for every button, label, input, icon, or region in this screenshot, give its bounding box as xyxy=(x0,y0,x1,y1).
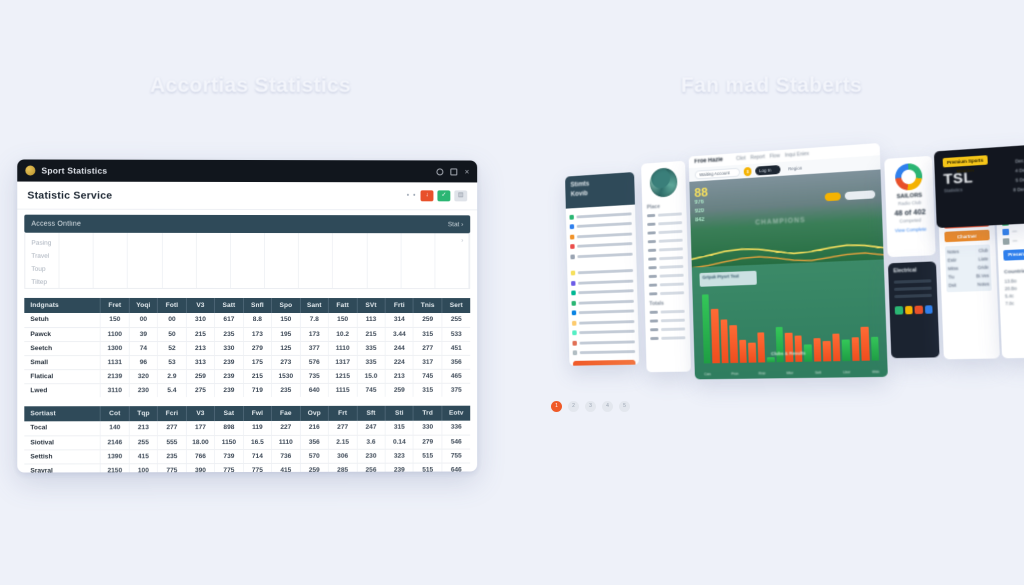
stat-value xyxy=(659,247,683,251)
table-row[interactable]: Seetch1300745221333027912537711103352442… xyxy=(24,341,470,355)
bar-axis-label: Selt xyxy=(814,371,821,375)
tsl-row: 5 Dec 5 xyxy=(1013,174,1024,185)
sidebar-item-label xyxy=(577,222,632,228)
primary-table: IndgnatsFretYoqiFotlV3SattSnflSpoSantFat… xyxy=(24,298,470,397)
sidebar-item-label xyxy=(578,289,633,294)
table-cell: 335 xyxy=(357,341,385,355)
table-header-cell[interactable]: Fotl xyxy=(158,298,187,313)
table-header-cell[interactable]: Cot xyxy=(101,406,130,421)
table-cell: 377 xyxy=(300,341,328,355)
stat-value xyxy=(659,239,683,243)
bar xyxy=(730,325,738,363)
table-header-cell[interactable]: Satt xyxy=(215,298,243,313)
bar-axis-label xyxy=(713,372,720,376)
grid-column xyxy=(60,233,94,288)
table-cell: 2139 xyxy=(101,369,130,383)
table-cell: 1110 xyxy=(328,341,356,355)
stat-key xyxy=(648,249,656,252)
table-cell: 10.2 xyxy=(328,327,356,341)
stat-card-link[interactable]: View Complete xyxy=(887,226,935,234)
table-header-cell[interactable]: Fcri xyxy=(158,406,187,421)
table-cell: 125 xyxy=(272,341,300,355)
table-cell: 277 xyxy=(414,341,442,355)
sidebar-item-icon xyxy=(572,341,577,346)
bar-axis-label xyxy=(853,370,861,374)
status-icon-blue xyxy=(924,305,932,314)
bar xyxy=(804,345,812,362)
table-cell: 255 xyxy=(442,313,470,327)
mid-table-row: NotesClub xyxy=(947,247,988,257)
table-row[interactable]: Setuh15000003106178.81507.81501133142592… xyxy=(24,313,470,327)
app-logo-icon xyxy=(25,166,35,176)
bar-axis-label xyxy=(796,371,803,375)
region-button[interactable]: Region xyxy=(784,163,806,173)
table-cell: 766 xyxy=(186,449,215,463)
bar-axis-label: Wslo xyxy=(872,370,880,374)
table-cell: 555 xyxy=(158,435,187,449)
pagination-dot-3[interactable]: 3 xyxy=(585,401,596,412)
table-row-label: Small xyxy=(24,355,100,369)
table-cell: 50 xyxy=(158,327,187,341)
table-cell: 150 xyxy=(328,313,356,327)
legend-row: —55.00.7SD xyxy=(997,234,1024,246)
mid-table-value: Club xyxy=(979,247,989,256)
sidebar-item-label xyxy=(579,310,634,315)
bar-axis-label xyxy=(740,372,747,376)
statistics-window: Sport Statistics × Statistic Service • •… xyxy=(17,159,477,472)
table-cell: 775 xyxy=(243,463,271,473)
table-header-cell[interactable]: V3 xyxy=(186,406,215,421)
table-cell: 7.8 xyxy=(300,313,328,327)
table-header-cell[interactable]: Sat xyxy=(215,406,243,421)
table-cell: 465 xyxy=(442,369,470,383)
emblem-mini-rows-2 xyxy=(645,307,690,343)
table-header-cell[interactable]: Trd xyxy=(414,406,442,421)
login-button[interactable]: Log In xyxy=(755,164,780,175)
donut-chart-icon xyxy=(895,163,923,191)
table-cell: 1530 xyxy=(272,369,300,383)
nav-item[interactable]: Report xyxy=(750,154,765,161)
grid-row-label: Tiltep xyxy=(31,276,51,289)
table-header-cell[interactable]: Indgnats xyxy=(24,298,100,313)
table-header-cell[interactable]: Fret xyxy=(101,298,130,313)
table-cell: 255 xyxy=(129,435,158,449)
table-cell: 227 xyxy=(272,421,300,435)
list-item-key: 7.0c xyxy=(1005,301,1014,307)
table-row[interactable]: Tocal14021327717789811922721627724731533… xyxy=(24,421,470,436)
hero-score: 88 xyxy=(694,186,708,200)
table-cell: 533 xyxy=(442,327,470,341)
sidebar-item-label xyxy=(576,212,631,218)
sidebar-item-label xyxy=(579,340,634,344)
table-cell: 239 xyxy=(385,463,413,473)
more-button[interactable]: ▤ xyxy=(454,190,467,201)
sidebar-item-icon xyxy=(572,331,577,336)
grid-column xyxy=(401,233,435,288)
grid-row-label: Toup xyxy=(31,263,51,276)
table-header-cell[interactable]: Sert xyxy=(442,298,470,313)
dark-card-line xyxy=(894,287,932,291)
table-cell: 5.4 xyxy=(158,383,187,397)
table-cell: 1390 xyxy=(101,449,130,463)
sidebar-item-label xyxy=(579,330,634,334)
table-cell: 173 xyxy=(300,327,328,341)
sidebar-item-label xyxy=(578,279,633,284)
table-cell: 310 xyxy=(186,313,215,327)
list-item: 13.Bo—7.9.Bo xyxy=(999,276,1024,286)
table-row-label: Settish xyxy=(24,449,100,463)
table-cell: 1300 xyxy=(101,341,130,355)
table-cell: 317 xyxy=(414,355,442,369)
nav-item[interactable]: Inqui Eniex xyxy=(785,151,809,159)
table-cell: 213 xyxy=(385,369,413,383)
stat-key xyxy=(648,266,656,269)
access-bar[interactable]: Access Ontline Stat › xyxy=(24,215,470,234)
table-cell: 315 xyxy=(414,383,442,397)
team-crest-icon xyxy=(649,167,677,198)
empty-grid-region: Pasing Travel Toup Tiltep › xyxy=(24,233,470,289)
bar-axis-label: Rrsmin xyxy=(758,371,765,375)
list-item: 7.0c—2.6sm xyxy=(1000,298,1024,307)
table-row-label: Pawck xyxy=(24,327,100,341)
table-header-cell[interactable]: Fae xyxy=(272,406,300,421)
hero-watermark: CHAMPIONS xyxy=(755,217,806,227)
table-row-label: Setuh xyxy=(24,313,100,327)
table-cell: 1110 xyxy=(272,435,300,449)
table-row[interactable]: Settish139041523576673971473657030623032… xyxy=(24,449,470,464)
pagination-dot-2[interactable]: 2 xyxy=(568,401,579,412)
stat-key xyxy=(648,240,656,243)
table-cell: 1115 xyxy=(328,383,356,397)
bar xyxy=(813,338,821,361)
service-heading: Statistic Service xyxy=(27,189,112,201)
area-chart-lines xyxy=(691,223,884,268)
table-cell: 8.8 xyxy=(243,313,271,327)
table-cell: 119 xyxy=(243,421,271,435)
grid-column xyxy=(197,233,231,288)
table-cell: 2.15 xyxy=(328,435,356,449)
sidebar-item-icon xyxy=(570,254,574,259)
table-cell: 714 xyxy=(243,449,271,463)
table-cell: 390 xyxy=(186,463,215,472)
stat-key xyxy=(650,328,658,331)
sidebar-item-icon xyxy=(571,271,575,276)
mid-table-key: Tiu xyxy=(948,273,954,282)
sidebar-item-icon xyxy=(573,351,578,356)
primary-table-wrap: IndgnatsFretYoqiFotlV3SattSnflSpoSantFat… xyxy=(24,298,470,397)
right-panel-list: 13.Bo—7.9.Bo20.Bo—4.4 Bo5.4c—2.1.Bo7.0c—… xyxy=(999,276,1024,308)
sidebar-item-label xyxy=(577,242,632,248)
currency-badge-icon[interactable]: $ xyxy=(744,166,752,175)
table-cell: 230 xyxy=(129,383,158,397)
table-cell: 576 xyxy=(300,355,328,369)
table-cell: 15.0 xyxy=(357,369,385,383)
table-cell: 239 xyxy=(215,369,243,383)
bar xyxy=(776,327,784,362)
bar xyxy=(711,309,719,363)
grid-column xyxy=(163,233,197,288)
table-row[interactable]: Pawck1100395021523517319517310.22153.443… xyxy=(24,327,470,341)
maximize-icon[interactable] xyxy=(451,168,458,175)
mockup-dark-card: Electrical xyxy=(888,261,940,358)
table-header-cell[interactable]: Sortiast xyxy=(24,406,100,421)
table-cell: 546 xyxy=(442,435,470,449)
access-bar-label: Access Ontline xyxy=(31,220,81,227)
bar xyxy=(861,326,870,360)
legend-swatch xyxy=(1002,228,1009,235)
close-icon[interactable]: × xyxy=(465,168,470,175)
bar-axis-label: Lbor xyxy=(843,370,851,374)
mid-panel-table: NotesClubEstirLiateMitssGrideTiuBi.VesDs… xyxy=(945,244,992,292)
table-cell: 745 xyxy=(414,369,442,383)
access-bar-more[interactable]: Stat › xyxy=(448,221,463,228)
table-cell: 150 xyxy=(272,313,300,327)
table-cell: 336 xyxy=(442,421,470,435)
table-header-cell[interactable]: Frt xyxy=(328,406,356,421)
mid-table-row: DsitNotes xyxy=(948,280,989,290)
table-cell: 739 xyxy=(215,449,243,463)
table-header-cell[interactable]: Ovp xyxy=(300,406,328,421)
stat-row xyxy=(646,333,691,343)
right-panel-cta[interactable]: Presentia Duritnel xyxy=(1003,248,1024,261)
table-cell: 140 xyxy=(101,421,130,435)
chevron-right-icon[interactable]: › xyxy=(461,238,463,244)
dark-card-line xyxy=(894,294,932,298)
bar-axis-label xyxy=(749,372,756,376)
sidebar-item-icon xyxy=(569,215,573,220)
sidebar-item-label xyxy=(579,300,634,305)
stat-value xyxy=(660,274,684,278)
table-header-row: IndgnatsFretYoqiFotlV3SattSnflSpoSantFat… xyxy=(24,298,470,313)
list-item: 20.Bo—4.4 Bo xyxy=(999,283,1024,293)
stat-value xyxy=(661,327,685,331)
table-row[interactable]: Siotival214625555518.00115016.511103562.… xyxy=(24,435,470,450)
table-cell: 415 xyxy=(129,449,158,463)
stat-key xyxy=(650,337,658,340)
stat-value xyxy=(660,291,684,295)
table-header-cell[interactable]: V3 xyxy=(186,298,215,313)
table-header-cell[interactable]: Fatt xyxy=(328,298,356,313)
table-header-cell[interactable]: Fwl xyxy=(243,406,271,421)
pagination: 12345 xyxy=(551,401,630,412)
stat-value xyxy=(658,212,682,216)
minimize-icon[interactable] xyxy=(437,168,444,175)
pagination-dot-5[interactable]: 5 xyxy=(619,401,630,412)
table-cell: 150 xyxy=(101,313,130,327)
mid-table-value: Notes xyxy=(977,280,989,289)
table-cell: 646 xyxy=(442,463,470,473)
table-header-cell[interactable]: Sti xyxy=(385,406,413,421)
table-cell: 335 xyxy=(357,355,385,369)
table-cell: 3110 xyxy=(101,383,130,397)
list-item-key: 20.Bo xyxy=(1005,286,1017,292)
mid-table-key: Mitss xyxy=(948,265,959,274)
dashboard-mockup-cluster: Stimts Kovib Place Totals Froe Hazle Cli… xyxy=(556,133,1023,402)
table-cell: 215 xyxy=(243,369,271,383)
mid-table-row: EstirLiate xyxy=(947,255,988,265)
nav-item[interactable]: Cliot xyxy=(736,156,746,163)
chartner-button[interactable]: Chartner xyxy=(944,230,989,243)
table-cell: 230 xyxy=(357,449,385,463)
table-cell: 2.9 xyxy=(158,369,187,383)
bar xyxy=(871,337,879,361)
main-brand: Froe Hazle xyxy=(694,157,723,165)
table-row-label: Tocal xyxy=(24,421,100,435)
dark-card-title: Electrical xyxy=(888,261,936,276)
window-subbar: Statistic Service • • ↓ ✓ ▤ xyxy=(17,182,477,211)
table-row-label: Siotival xyxy=(24,435,100,449)
list-item-key: 5.4c xyxy=(1005,293,1014,299)
sidebar-item-label xyxy=(577,252,632,257)
table-cell: 96 xyxy=(129,355,158,369)
stat-key xyxy=(647,223,655,226)
page-title-left: Accortias Statistics xyxy=(150,74,351,98)
hero-action-button[interactable] xyxy=(845,190,876,200)
window-title: Sport Statistics xyxy=(41,166,107,176)
mockup-emblem-panel: Place Totals xyxy=(641,161,691,372)
bar xyxy=(785,333,793,362)
table-row[interactable]: Sravral215010077539077577541525928525623… xyxy=(24,463,470,473)
stat-value xyxy=(658,221,682,225)
stat-value xyxy=(661,310,685,314)
stat-key xyxy=(647,214,655,217)
table-cell: 330 xyxy=(414,421,442,435)
table-header-cell[interactable]: Sft xyxy=(357,406,385,421)
bar-axis-label xyxy=(824,370,831,374)
table-header-cell[interactable]: SVt xyxy=(357,298,385,313)
table-cell: 2146 xyxy=(101,435,130,449)
sidebar-item-list xyxy=(566,205,639,359)
table-cell: 736 xyxy=(272,449,300,463)
stat-key xyxy=(649,284,657,287)
bar-chart-title: Grtpak Ptysrt Teat xyxy=(699,271,756,282)
sidebar-item-icon xyxy=(571,281,575,286)
confirm-button[interactable]: ✓ xyxy=(437,190,450,201)
table-cell: 00 xyxy=(129,313,158,327)
table-cell: 775 xyxy=(215,463,243,473)
table-cell: 3.44 xyxy=(385,327,413,341)
grid-column xyxy=(128,233,162,288)
stat-card-name: SAILORS xyxy=(885,192,933,201)
export-button[interactable]: ↓ xyxy=(421,190,434,201)
table-header-cell[interactable]: Tnis xyxy=(414,298,442,313)
table-cell: 1100 xyxy=(101,327,130,341)
mid-table-value: Liate xyxy=(978,255,988,264)
sidebar-item-icon xyxy=(572,311,576,316)
table-cell: 719 xyxy=(243,383,271,397)
table-cell: 306 xyxy=(328,449,356,463)
table-row-label: Lwed xyxy=(24,383,100,397)
mid-table-row: TiuBi.Ves xyxy=(948,272,989,282)
table-header-cell[interactable]: Spo xyxy=(272,298,300,313)
table-row[interactable]: Lwed31102305.427523971923564011157452593… xyxy=(24,383,470,397)
table-header-cell[interactable]: Sant xyxy=(300,298,328,313)
grid-column xyxy=(333,233,367,288)
grid-column xyxy=(231,233,265,288)
bar xyxy=(739,340,747,363)
sidebar-item-premium[interactable] xyxy=(573,360,636,366)
secondary-table: SortiastCotTqpFcriV3SatFwlFaeOvpFrtSftSt… xyxy=(24,406,470,473)
stat-key xyxy=(649,275,657,278)
main-nav: Cliot Report Flow Inqui Eniex xyxy=(736,151,809,162)
table-row[interactable]: Small11319653313239175273576131733522431… xyxy=(24,355,470,369)
table-header-cell[interactable]: Yoqi xyxy=(129,298,158,313)
table-cell: 235 xyxy=(158,449,187,463)
stat-card-sub: Radio Club xyxy=(886,198,934,208)
table-cell: 415 xyxy=(272,463,300,473)
table-cell: 74 xyxy=(129,341,158,355)
window-titlebar: Sport Statistics × xyxy=(17,159,477,182)
table-cell: 224 xyxy=(385,355,413,369)
table-cell: 1131 xyxy=(101,355,130,369)
mockup-stat-card: SAILORS Radio Club 48 of 402 Competed Vi… xyxy=(884,156,935,257)
table-cell: 213 xyxy=(129,421,158,435)
bar-chart-caption: Clubs & Results xyxy=(771,351,806,357)
status-icon-amber xyxy=(905,306,913,315)
stat-row xyxy=(645,307,689,317)
nav-item[interactable]: Flow xyxy=(770,153,780,160)
table-row-label: Sravral xyxy=(24,463,100,472)
table-cell: 277 xyxy=(158,421,187,435)
sidebar-item-icon xyxy=(570,244,574,249)
bar xyxy=(748,343,756,363)
table-cell: 244 xyxy=(385,341,413,355)
table-cell: 259 xyxy=(385,383,413,397)
hero-badge[interactable] xyxy=(825,192,841,201)
stat-value xyxy=(659,256,683,260)
search-chip[interactable]: Waiting Account xyxy=(695,167,740,179)
bar-axis-label xyxy=(862,370,870,374)
hero-substat: 842 xyxy=(695,216,709,226)
table-row[interactable]: Flatical21393202.92592392151530735121515… xyxy=(24,369,470,383)
bar xyxy=(721,319,729,363)
table-header-cell[interactable]: Eotv xyxy=(442,406,470,421)
table-header-cell[interactable]: Tqp xyxy=(129,406,158,421)
list-item-key: 13.Bo xyxy=(1004,278,1016,284)
bar-axis-label xyxy=(833,370,840,374)
table-cell: 39 xyxy=(129,327,158,341)
sidebar-item-label xyxy=(579,320,634,324)
sidebar-item-integration[interactable] xyxy=(573,347,636,358)
table-cell: 323 xyxy=(385,449,413,463)
table-cell: 235 xyxy=(272,383,300,397)
tsl-row: 8 Dec 10 xyxy=(1013,184,1024,195)
table-cell: 195 xyxy=(272,327,300,341)
grid-column xyxy=(265,233,299,288)
bar-chart-card: Grtpak Ptysrt Teat xyxy=(699,271,756,287)
bar xyxy=(851,337,859,361)
stat-value xyxy=(659,265,683,269)
grid-column xyxy=(367,233,401,288)
stat-value xyxy=(660,283,684,287)
pagination-dot-4[interactable]: 4 xyxy=(602,401,613,412)
tsl-rows: Dec. 11 4 Dec 9 5 Dec 5 8 Dec 10 xyxy=(1012,155,1024,194)
pagination-dot-1[interactable]: 1 xyxy=(551,401,562,412)
table-header-cell[interactable]: Snfl xyxy=(243,298,271,313)
sidebar-active-label xyxy=(577,364,632,366)
grid-row-label: Pasing xyxy=(31,237,51,250)
table-cell: 00 xyxy=(158,313,187,327)
grid-column xyxy=(94,233,128,288)
bar xyxy=(832,334,840,361)
table-cell: 356 xyxy=(300,435,328,449)
table-cell: 640 xyxy=(300,383,328,397)
table-cell: 177 xyxy=(186,421,215,435)
bar-axis-label: Mlor xyxy=(786,371,793,375)
table-cell: 259 xyxy=(414,313,442,327)
table-header-cell[interactable]: Frti xyxy=(385,298,413,313)
table-row-label: Flatical xyxy=(24,369,100,383)
